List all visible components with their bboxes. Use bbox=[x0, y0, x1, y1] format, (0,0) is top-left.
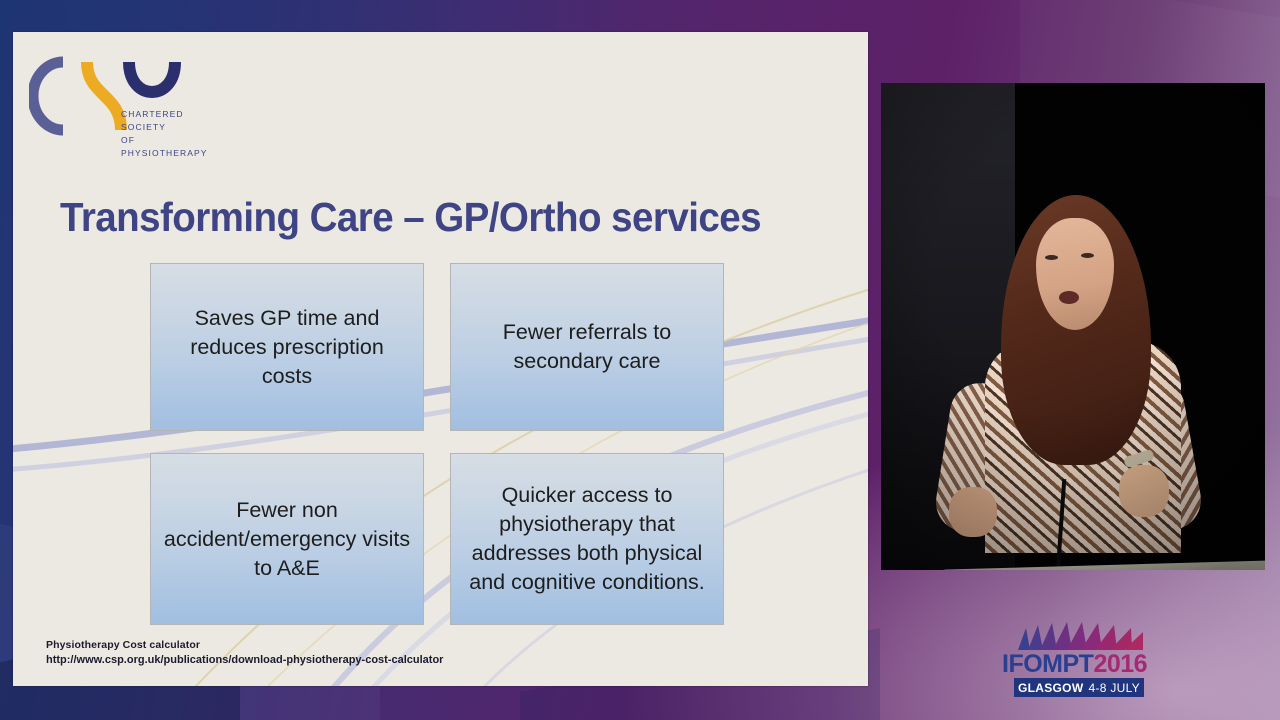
csp-word-line-1: CHARTERED bbox=[121, 108, 208, 121]
ifompt-dates: 4-8 JULY bbox=[1088, 681, 1140, 695]
source-url[interactable]: http://www.csp.org.uk/publications/downl… bbox=[46, 653, 443, 668]
content-box-fewer-referrals: Fewer referrals to secondary care bbox=[450, 263, 724, 431]
slide-title: Transforming Care – GP/Ortho services bbox=[60, 194, 761, 241]
video-vignette bbox=[881, 83, 1265, 570]
ifompt-wordmark: IFOMPT2016 bbox=[1002, 652, 1156, 676]
csp-word-line-2: SOCIETY bbox=[121, 121, 208, 134]
csp-word-line-3: OF bbox=[121, 134, 208, 147]
source-label: Physiotherapy Cost calculator bbox=[46, 638, 443, 653]
ifompt-name: IFOMPT bbox=[1002, 650, 1093, 678]
ifompt-2016-logo: IFOMPT2016 GLASGOW 4-8 JULY bbox=[1002, 620, 1156, 698]
ifompt-city: GLASGOW bbox=[1018, 681, 1083, 695]
csp-logo: CHARTERED SOCIETY OF PHYSIOTHERAPY bbox=[29, 50, 229, 170]
content-box-fewer-ae-visits: Fewer non accident/emergency visits to A… bbox=[150, 453, 424, 625]
presentation-recording-frame: CHARTERED SOCIETY OF PHYSIOTHERAPY Trans… bbox=[0, 0, 1280, 720]
ifompt-fan-icon bbox=[1016, 620, 1144, 654]
ifompt-year: 2016 bbox=[1093, 650, 1147, 678]
slide-source-footer: Physiotherapy Cost calculator http://www… bbox=[46, 638, 443, 668]
ifompt-location-bar: GLASGOW 4-8 JULY bbox=[1014, 678, 1144, 697]
content-box-quicker-access: Quicker access to physiotherapy that add… bbox=[450, 453, 724, 625]
csp-logo-wordmark: CHARTERED SOCIETY OF PHYSIOTHERAPY bbox=[121, 108, 208, 160]
csp-word-line-4: PHYSIOTHERAPY bbox=[121, 147, 208, 160]
speaker-video-feed[interactable] bbox=[881, 83, 1265, 570]
presentation-slide: CHARTERED SOCIETY OF PHYSIOTHERAPY Trans… bbox=[13, 32, 868, 686]
content-box-saves-gp-time: Saves GP time and reduces prescription c… bbox=[150, 263, 424, 431]
